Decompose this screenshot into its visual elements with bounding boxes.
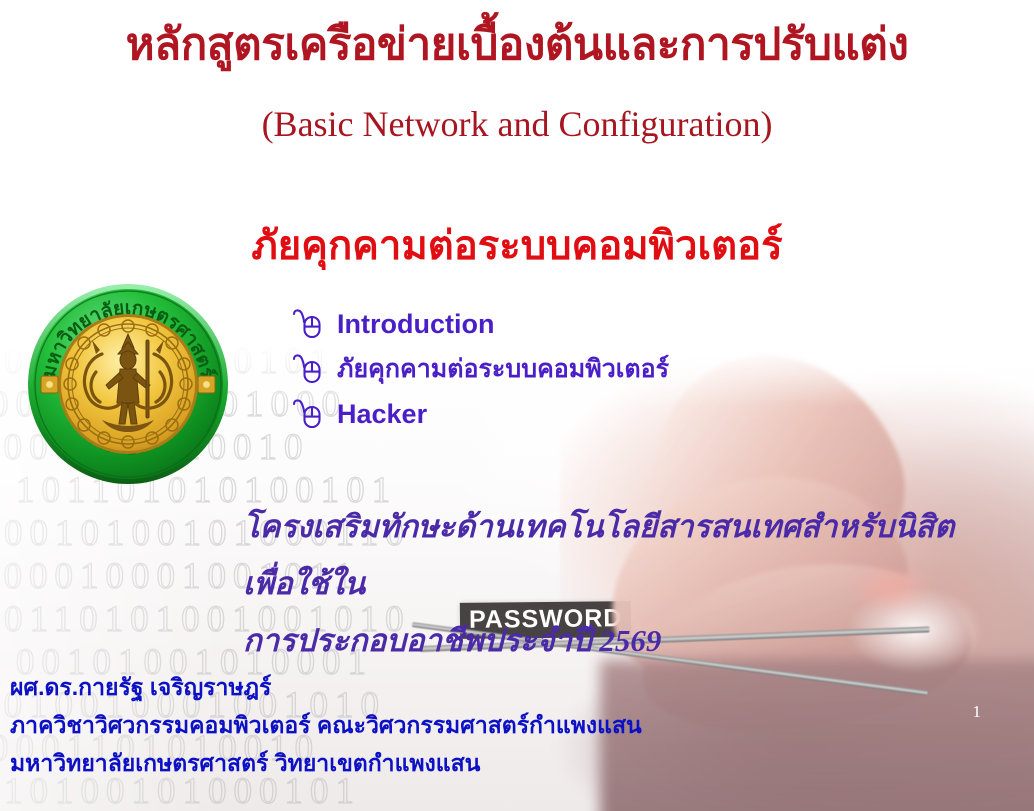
mouse-icon bbox=[292, 308, 326, 340]
slide-title-english: (Basic Network and Configuration) bbox=[0, 103, 1034, 145]
author-university: มหาวิทยาลัยเกษตรศาสตร์ วิทยาเขตกำแพงแสน bbox=[10, 744, 642, 782]
page-number: 1 bbox=[973, 702, 982, 722]
slide-topic-heading: ภัยคุกคามต่อระบบคอมพิวเตอร์ bbox=[0, 222, 1034, 270]
mouse-icon bbox=[292, 398, 326, 430]
list-item-label: Hacker bbox=[337, 399, 427, 429]
author-name: ผศ.ดร.กายรัฐ เจริญราษฎร์ bbox=[10, 668, 642, 706]
presentation-slide: 0101001000101 00010100101000 10001000100… bbox=[0, 0, 1034, 811]
list-item[interactable]: Introduction bbox=[292, 308, 669, 340]
program-note-line: โครงเสริมทักษะด้านเทคโนโลยีสารสนเทศสำหรั… bbox=[243, 498, 1003, 612]
mouse-icon bbox=[292, 353, 326, 385]
list-item[interactable]: Hacker bbox=[292, 398, 669, 430]
list-item-label: Introduction bbox=[337, 309, 494, 339]
agenda-list: Introduction ภัยคุกคามต่อระบบคอมพิวเตอร์… bbox=[292, 308, 669, 443]
list-item[interactable]: ภัยคุกคามต่อระบบคอมพิวเตอร์ bbox=[292, 353, 669, 385]
author-department: ภาควิชาวิศวกรรมคอมพิวเตอร์ คณะวิศวกรรมศา… bbox=[10, 706, 642, 744]
program-note-line: การประกอบอาชีพประจำปี 2569 bbox=[243, 612, 1003, 669]
author-block: ผศ.ดร.กายรัฐ เจริญราษฎร์ ภาควิชาวิศวกรรม… bbox=[10, 668, 642, 782]
program-note: โครงเสริมทักษะด้านเทคโนโลยีสารสนเทศสำหรั… bbox=[243, 498, 1003, 669]
kasetsart-university-seal-icon: มหาวิทยาลัยเกษตรศาสตร์ พ.ศ. ๒๔๘๖ bbox=[24, 280, 232, 486]
list-item-label: ภัยคุกคามต่อระบบคอมพิวเตอร์ bbox=[337, 354, 669, 384]
slide-title-thai: หลักสูตรเครือข่ายเบื้องต้นและการปรับแต่ง bbox=[0, 18, 1034, 72]
